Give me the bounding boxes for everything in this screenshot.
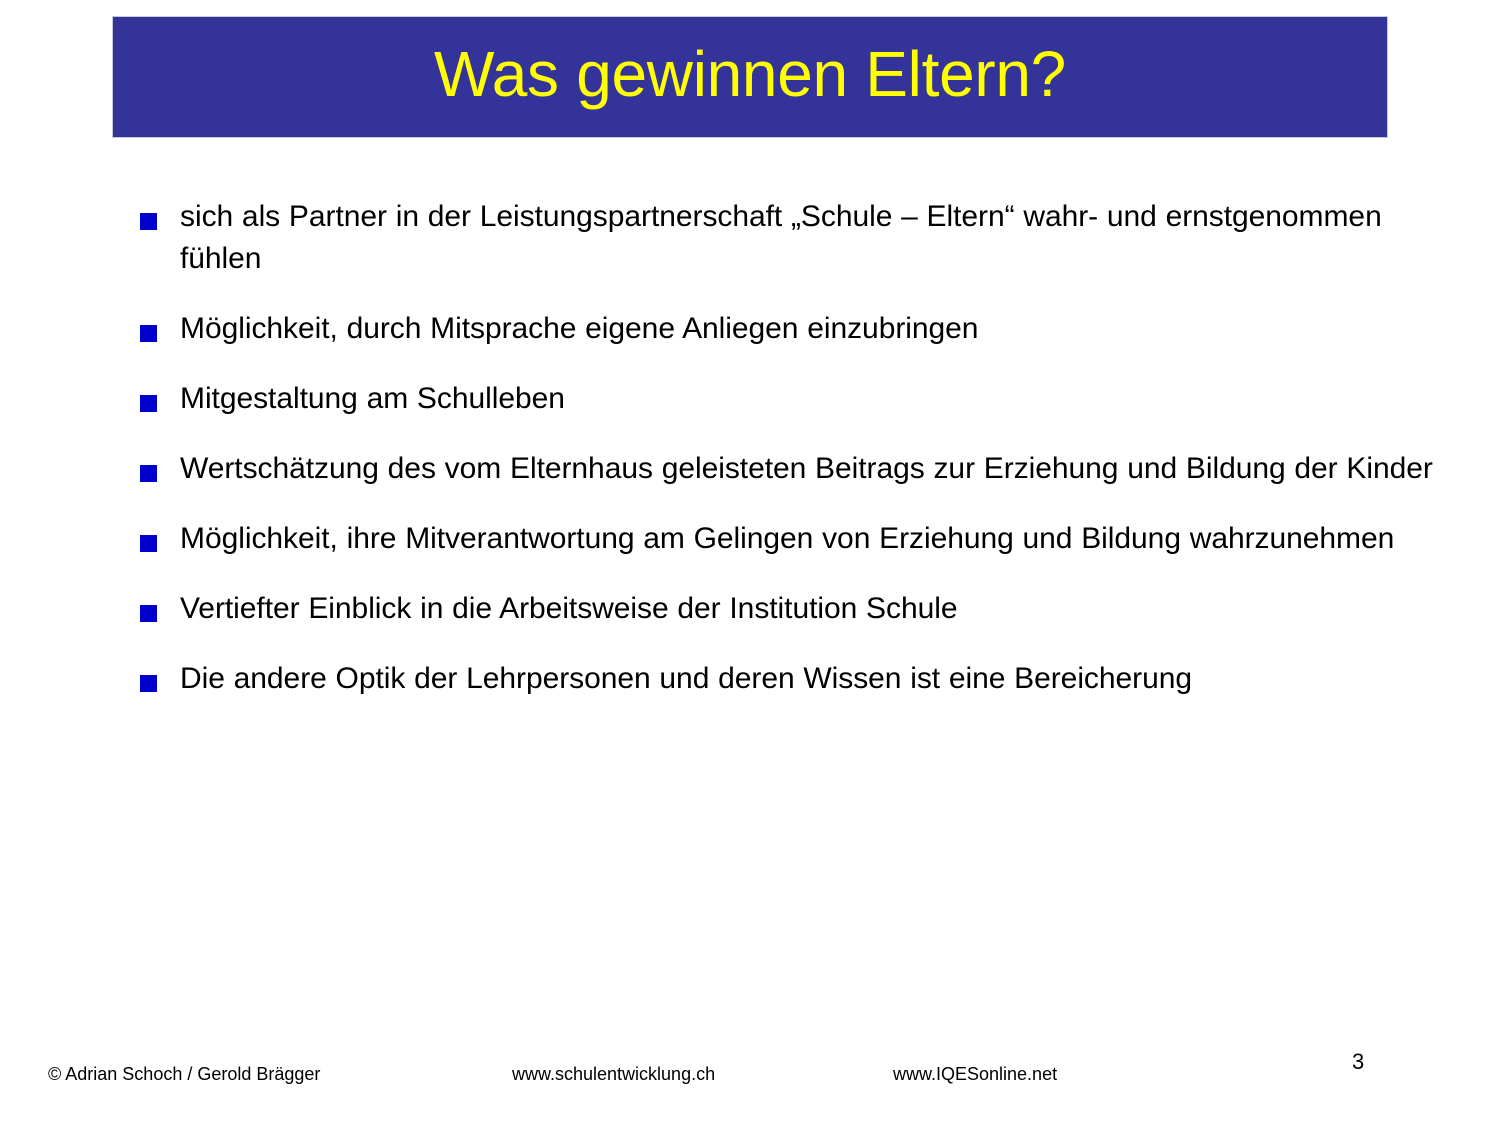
square-bullet-icon — [140, 325, 157, 342]
list-item: Möglichkeit, ihre Mitverantwortung am Ge… — [140, 518, 1460, 560]
footer-copyright: © Adrian Schoch / Gerold Brägger — [48, 1062, 320, 1086]
bullet-list: sich als Partner in der Leistungspartner… — [140, 196, 1460, 700]
list-item-text: Vertiefter Einblick in die Arbeitsweise … — [180, 588, 1460, 630]
footer-website-schulentwicklung: www.schulentwicklung.ch — [512, 1062, 715, 1086]
square-bullet-icon — [140, 465, 157, 482]
list-item-text: Mitgestaltung am Schulleben — [180, 378, 1460, 420]
slide-title-bar: Was gewinnen Eltern? — [112, 16, 1388, 138]
slide-footer: © Adrian Schoch / Gerold Brägger www.sch… — [0, 1062, 1500, 1102]
list-item-text: Die andere Optik der Lehrpersonen und de… — [180, 658, 1460, 700]
list-item: Wertschätzung des vom Elternhaus geleist… — [140, 448, 1460, 490]
list-item: Die andere Optik der Lehrpersonen und de… — [140, 658, 1460, 700]
list-item: Möglichkeit, durch Mitsprache eigene Anl… — [140, 308, 1460, 350]
square-bullet-icon — [140, 395, 157, 412]
slide: Was gewinnen Eltern? sich als Partner in… — [0, 0, 1500, 1125]
square-bullet-icon — [140, 605, 157, 622]
list-item-text: Möglichkeit, ihre Mitverantwortung am Ge… — [180, 518, 1460, 560]
list-item-text: Wertschätzung des vom Elternhaus geleist… — [180, 448, 1460, 490]
list-item: Vertiefter Einblick in die Arbeitsweise … — [140, 588, 1460, 630]
footer-website-iqesonline: www.IQESonline.net — [893, 1062, 1057, 1086]
list-item-text: Möglichkeit, durch Mitsprache eigene Anl… — [180, 308, 1460, 350]
square-bullet-icon — [140, 535, 157, 552]
list-item: sich als Partner in der Leistungspartner… — [140, 196, 1460, 280]
list-item: Mitgestaltung am Schulleben — [140, 378, 1460, 420]
square-bullet-icon — [140, 675, 157, 692]
page-number: 3 — [1352, 1049, 1392, 1075]
square-bullet-icon — [140, 213, 157, 230]
page-title: Was gewinnen Eltern? — [424, 41, 1076, 108]
list-item-text: sich als Partner in der Leistungspartner… — [180, 196, 1460, 280]
